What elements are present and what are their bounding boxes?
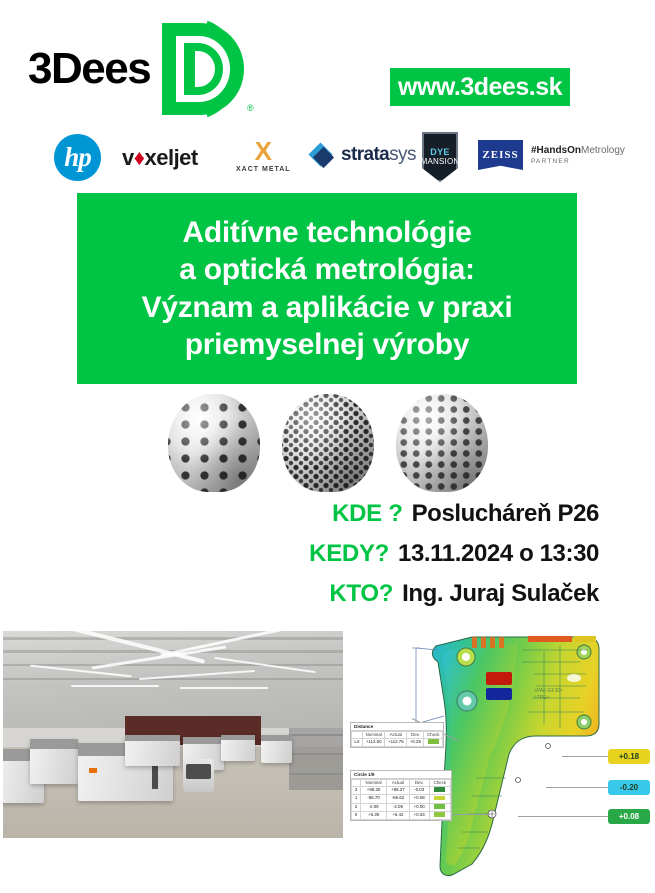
handson-light-text: Metrology — [581, 145, 625, 156]
factory-technician — [57, 735, 74, 776]
cell-nominal: +112.50 — [363, 738, 385, 746]
deviation-callout-plus-008: +0.08 — [608, 809, 650, 824]
col-icon — [352, 732, 363, 739]
3dees-d-mark-icon: ® — [154, 19, 264, 119]
hp-logo-text: hp — [64, 142, 91, 173]
cell-id: 1 — [352, 795, 361, 803]
cell-actual: -86.62 — [387, 795, 410, 803]
xact-metal-x-icon: X — [255, 138, 272, 164]
cell-check — [429, 803, 450, 811]
table-header-row: Nominal Actual Dev. Check — [352, 732, 443, 739]
col-check: Check — [429, 780, 450, 787]
title-line-1: Aditívne technológie — [182, 214, 471, 251]
partner-logo-dye-mansion: DYE MANSION — [422, 132, 458, 182]
cell-dev: +0.03 — [409, 811, 429, 819]
voxeljet-text-a: v — [122, 145, 134, 170]
xact-metal-lockup: X XACT METAL — [236, 138, 291, 173]
xact-metal-wordmark: XACT METAL — [236, 166, 291, 173]
additive-manufacturing-factory-photo — [3, 631, 343, 838]
circle-table-caption: Circle 1/9 — [351, 771, 451, 779]
col-dev: Dev. — [407, 732, 424, 739]
optical-metrology-deviation-scan: >PA6-GF30< >TPE< +0.18 -0.20 +0.08 — [350, 618, 655, 893]
cell-id: 2 — [352, 803, 361, 811]
col-actual: Actual — [387, 780, 410, 787]
detail-row-location: KDE ? Poslucháreň P26 — [0, 500, 655, 528]
partner-logo-hp: hp — [54, 134, 101, 181]
cell-dev: -0.03 — [409, 786, 429, 794]
cell-id: 0 — [352, 811, 361, 819]
circle-measurement-table: Circle 1/9 Nominal Actual Dev. Check 3 +… — [350, 770, 452, 821]
stratasys-text-b: sys — [389, 144, 416, 165]
zeiss-wordmark: ZEISS — [482, 149, 518, 161]
brand-wordmark: 3Dees — [28, 47, 150, 91]
col-nominal: Nominal — [361, 780, 387, 787]
voxeljet-dot-icon: ♦ — [134, 145, 145, 170]
distance-table-caption: Distance — [351, 723, 443, 731]
cell-check — [424, 738, 443, 746]
col-nominal: Nominal — [363, 732, 385, 739]
zeiss-icon: ZEISS — [478, 140, 523, 170]
callout-leader-line — [546, 787, 608, 788]
cell-dev: +0.08 — [409, 795, 429, 803]
stratasys-text-a: strata — [341, 144, 389, 165]
detail-label-kde: KDE ? — [332, 500, 403, 528]
partner-logo-stratasys: stratasys — [312, 143, 416, 167]
table-header-row: Nominal Actual Dev. Check — [352, 780, 451, 787]
dye-mansion-line2: MANSION — [421, 158, 460, 166]
handson-metrology-wordmark: #HandsOnMetrology — [531, 145, 625, 157]
callout-leader-line — [562, 756, 608, 757]
website-url-badge[interactable]: www.3dees.sk — [390, 68, 570, 106]
cell-nominal: +88.30 — [361, 786, 387, 794]
partner-logo-strip: hp v♦xeljet X XACT METAL stratasys DYE — [0, 126, 655, 188]
dye-mansion-shield-icon: DYE MANSION — [422, 132, 458, 182]
col-icon — [352, 780, 361, 787]
deviation-callout-plus-018: +0.18 — [608, 749, 650, 764]
handson-partner-label: PARTNER — [531, 158, 625, 165]
table-row: LX +112.50 +112.75 +0.25 — [352, 738, 443, 746]
title-line-4: priemyselnej výroby — [185, 326, 469, 363]
voxeljet-wordmark: v♦xeljet — [122, 145, 198, 171]
cell-check — [429, 811, 450, 819]
factory-ceiling — [3, 631, 343, 728]
detail-row-datetime: KEDY? 13.11.2024 o 13:30 — [0, 540, 655, 568]
handson-bold-text: #HandsOn — [531, 145, 581, 156]
storage-shelving — [289, 728, 343, 790]
stratasys-lockup: stratasys — [312, 143, 416, 167]
cell-nominal: -86.70 — [361, 795, 387, 803]
detail-value-location: Poslucháreň P26 — [412, 500, 599, 528]
stratasys-wordmark: stratasys — [341, 144, 416, 166]
material-transport-cart — [183, 759, 214, 792]
deviation-callout-minus-020: -0.20 — [608, 780, 650, 795]
cell-actual: +88.27 — [387, 786, 410, 794]
cell-actual: +6.42 — [387, 811, 410, 819]
brand-logo: 3Dees ® — [28, 30, 264, 108]
hp-icon: hp — [54, 134, 101, 181]
detail-label-kto: KTO? — [329, 580, 393, 608]
lattice-sample-gallery — [168, 392, 488, 492]
cell-dev: +0.25 — [407, 738, 424, 746]
partner-logo-voxeljet: v♦xeljet — [122, 145, 198, 171]
detail-value-speaker: Ing. Juraj Sulaček — [402, 580, 599, 608]
col-dev: Dev. — [409, 780, 429, 787]
distance-measurement-table: Distance Nominal Actual Dev. Check LX +1… — [350, 722, 444, 748]
partner-logo-xact-metal: X XACT METAL — [236, 138, 291, 173]
event-title-banner: Aditívne technológie a optická metrológi… — [77, 193, 577, 384]
table-row: 3 +88.30 +88.27 -0.03 — [352, 786, 451, 794]
svg-text:®: ® — [247, 103, 254, 113]
deviation-colormap-model: >PA6-GF30< >TPE< — [410, 628, 610, 878]
website-url-text: www.3dees.sk — [398, 73, 562, 102]
3d-printer-unit — [125, 735, 179, 766]
cell-nominal: +6.39 — [361, 811, 387, 819]
cell-id: 3 — [352, 786, 361, 794]
svg-text:>TPE<: >TPE< — [534, 695, 550, 701]
3d-printer-unit — [261, 735, 292, 764]
cell-actual: -2.09 — [387, 803, 410, 811]
cell-actual: +112.75 — [385, 738, 407, 746]
event-poster: 3Dees ® www.3dees.sk hp v — [0, 0, 655, 893]
3d-printer-unit — [221, 735, 255, 762]
partner-logo-zeiss: ZEISS #HandsOnMetrology PARTNER — [478, 140, 625, 170]
handson-metrology-lockup: #HandsOnMetrology PARTNER — [531, 145, 625, 166]
diamond-lattice-sphere-image — [282, 394, 374, 492]
detail-row-speaker: KTO? Ing. Juraj Sulaček — [0, 580, 655, 608]
cell-dev: +0.00 — [409, 803, 429, 811]
title-line-3: Význam a aplikácie v praxi — [142, 289, 513, 326]
svg-text:>PA6-GF30<: >PA6-GF30< — [534, 688, 563, 694]
stratasys-diamond-icon — [312, 143, 336, 167]
callout-leader-line — [518, 816, 608, 817]
table-row: 0 +6.39 +6.42 +0.03 — [352, 811, 451, 819]
voronoi-lattice-sphere-image — [168, 394, 260, 492]
detail-label-kedy: KEDY? — [309, 540, 389, 568]
poster-header: 3Dees ® www.3dees.sk — [0, 0, 655, 125]
title-line-2: a optická metrológia: — [179, 251, 474, 288]
cell-check — [429, 795, 450, 803]
col-actual: Actual — [385, 732, 407, 739]
table-row: 2 -2.09 -2.09 +0.00 — [352, 803, 451, 811]
col-check: Check — [424, 732, 443, 739]
voxeljet-text-b: xeljet — [144, 145, 197, 170]
cell-id: LX — [352, 738, 363, 746]
cell-check — [429, 786, 450, 794]
cell-nominal: -2.09 — [361, 803, 387, 811]
event-details: KDE ? Poslucháreň P26 KEDY? 13.11.2024 o… — [0, 500, 655, 620]
honeycomb-lattice-sphere-image — [396, 394, 488, 492]
detail-value-datetime: 13.11.2024 o 13:30 — [398, 540, 599, 568]
table-row: 1 -86.70 -86.62 +0.08 — [352, 795, 451, 803]
